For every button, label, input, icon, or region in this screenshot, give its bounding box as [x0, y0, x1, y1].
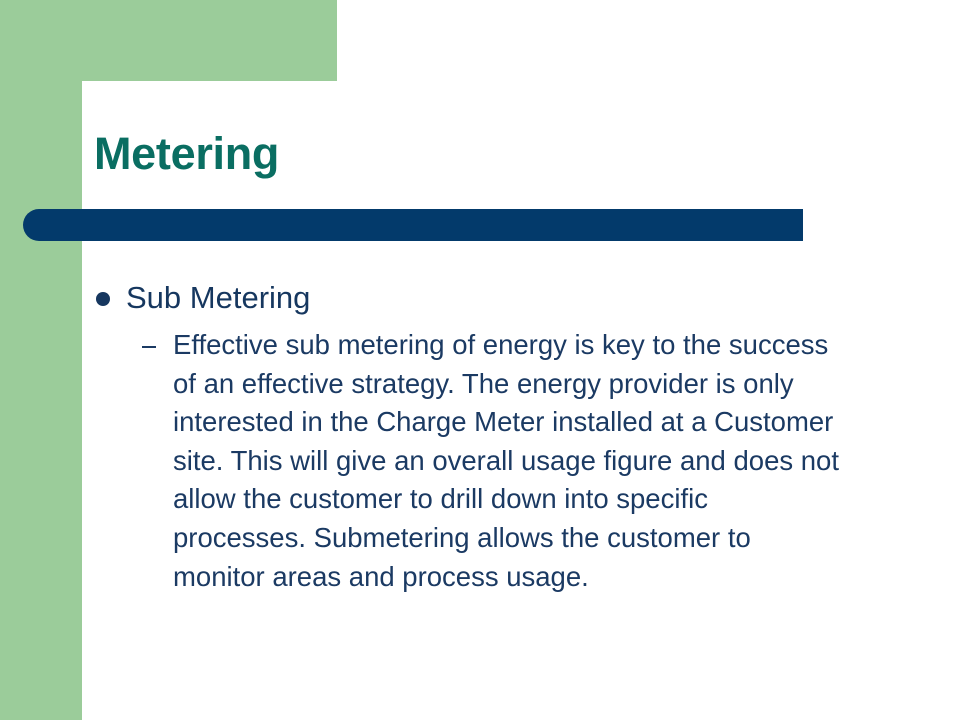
- bullet-dash-icon: [142, 346, 156, 348]
- slide-title: Metering: [94, 128, 279, 180]
- bullet-level2-text: Effective sub metering of energy is key …: [173, 326, 841, 596]
- slide-body: Sub Metering Effective sub metering of e…: [96, 278, 886, 596]
- bullet-level2: Effective sub metering of energy is key …: [96, 326, 886, 596]
- decorative-green-left-strip: [0, 0, 82, 720]
- bullet-level1-text: Sub Metering: [126, 278, 886, 318]
- bullet-dot-icon: [96, 292, 110, 306]
- title-accent-bar: [23, 209, 803, 241]
- bullet-level1: Sub Metering: [96, 278, 886, 318]
- slide-canvas: Metering Sub Metering Effective sub mete…: [0, 0, 960, 720]
